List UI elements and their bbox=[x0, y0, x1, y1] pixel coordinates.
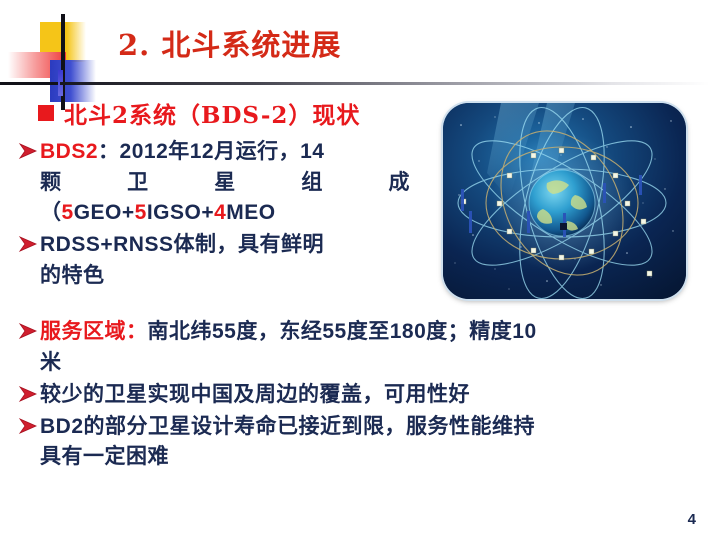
list-item: 较少的卫星实现中国及周边的覆盖，可用性好 bbox=[18, 379, 708, 409]
page-number: 4 bbox=[688, 511, 696, 528]
list-item: RDSS+RNSS体制，具有鲜明 的特色 bbox=[18, 229, 418, 290]
list-item-text: 服务区域：南北纬55度，东经55度至180度；精度10 米 bbox=[40, 316, 700, 377]
arrow-bullet-icon bbox=[18, 418, 40, 434]
list-item-text: BDS2：2012年12月运行，14 颗卫星组成 （5GEO+5IGSO+4ME… bbox=[40, 136, 410, 227]
list-item-line: BD2的部分卫星设计寿命已接近到限，服务性能维持 bbox=[40, 411, 700, 442]
list-item-line: 颗卫星组成 bbox=[40, 167, 410, 197]
list-item-text: 较少的卫星实现中国及周边的覆盖，可用性好 bbox=[40, 379, 700, 409]
list-item: 服务区域：南北纬55度，东经55度至180度；精度10 米 bbox=[18, 316, 708, 377]
list-item-line: （5GEO+5IGSO+4MEO bbox=[40, 197, 410, 228]
list-item-line: 米 bbox=[40, 347, 700, 377]
list-item-text: RDSS+RNSS体制，具有鲜明 的特色 bbox=[40, 229, 410, 290]
red-square-bullet-icon bbox=[38, 105, 54, 121]
list-item: BDS2：2012年12月运行，14 颗卫星组成 （5GEO+5IGSO+4ME… bbox=[18, 136, 418, 227]
arrow-bullet-icon bbox=[18, 323, 40, 339]
list-item-line: 的特色 bbox=[40, 260, 410, 290]
arrow-bullet-icon bbox=[18, 386, 40, 402]
list-item-line: 较少的卫星实现中国及周边的覆盖，可用性好 bbox=[40, 379, 700, 409]
list-item-line: 具有一定困难 bbox=[40, 441, 700, 471]
list-item-line: RDSS+RNSS体制，具有鲜明 bbox=[40, 229, 410, 260]
arrow-bullet-icon bbox=[18, 143, 40, 159]
list-item: BD2的部分卫星设计寿命已接近到限，服务性能维持 具有一定困难 bbox=[18, 411, 708, 472]
list-item-line: BDS2：2012年12月运行，14 bbox=[40, 136, 410, 167]
list-item-line: 服务区域：南北纬55度，东经55度至180度；精度10 bbox=[40, 316, 700, 347]
section-heading-label: 北斗2系统（BDS-2）现状 bbox=[64, 96, 360, 130]
list-item-text: BD2的部分卫星设计寿命已接近到限，服务性能维持 具有一定困难 bbox=[40, 411, 700, 472]
page-title: 2. 北斗系统进展 bbox=[118, 22, 341, 64]
arrow-bullet-icon bbox=[18, 236, 40, 252]
slide-logo-mark bbox=[8, 14, 118, 92]
title-divider bbox=[60, 82, 710, 85]
satellite-constellation-image bbox=[443, 103, 686, 299]
